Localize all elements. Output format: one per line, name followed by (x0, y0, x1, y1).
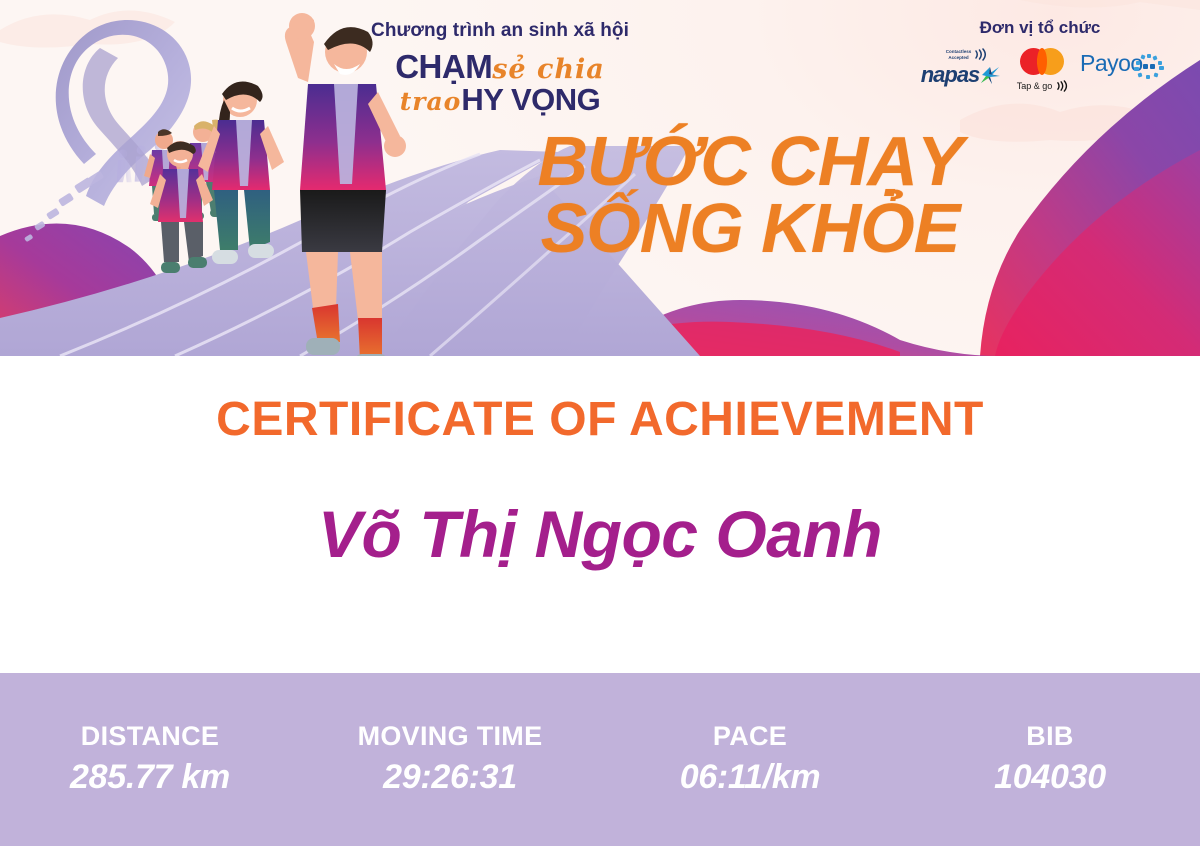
stat-label: PACE (600, 722, 900, 752)
contactless-line1: Contactless (946, 49, 972, 54)
certificate-title: CERTIFICATE OF ACHIEVEMENT (0, 392, 1200, 447)
tap-and-go-label: Tap & go (1017, 81, 1053, 91)
logo-script-se-chia: sẻ chia (492, 54, 605, 85)
stat-moving-time: MOVING TIME 29:26:31 (300, 722, 600, 797)
stat-value: 104030 (900, 758, 1200, 797)
sponsor-logos: Contactless Accepted napas (905, 44, 1175, 112)
logo-word-cham: CHẠM (395, 48, 492, 85)
mastercard-icon (1000, 44, 1086, 78)
stat-label: BIB (900, 722, 1200, 752)
contactless-wave-icon (974, 48, 988, 61)
stat-bib: BIB 104030 (900, 722, 1200, 797)
contactless-line2: Accepted (946, 55, 972, 60)
certificate-header: Chương trình an sinh xã hội CHẠMsẻ chia … (0, 0, 1200, 356)
certificate-body: CERTIFICATE OF ACHIEVEMENT Võ Thị Ngọc O… (0, 356, 1200, 673)
stat-pace: PACE 06:11/km (600, 722, 900, 797)
sponsor-logo-napas: Contactless Accepted napas (915, 48, 1007, 88)
stat-value: 06:11/km (600, 758, 900, 797)
tap-and-go-caption: Tap & go (1000, 80, 1086, 92)
program-logo-block: Chương trình an sinh xã hội CHẠMsẻ chia … (370, 20, 630, 120)
organizer-block: Đơn vị tổ chức Contactless Accepted (905, 18, 1175, 112)
stat-label: MOVING TIME (300, 722, 600, 752)
stats-bar: DISTANCE 285.77 km MOVING TIME 29:26:31 … (0, 673, 1200, 846)
event-title: BƯỚC CHẠY SỐNG KHỎE (400, 128, 1100, 262)
logo-word-hy-vong: HY VỌNG (461, 82, 600, 117)
sponsor-logo-mastercard: Tap & go (1000, 44, 1086, 92)
napas-wordmark: napas (921, 62, 980, 88)
napas-star-icon (979, 64, 1001, 86)
athlete-name: Võ Thị Ngọc Oanh (0, 496, 1200, 572)
stat-label: DISTANCE (0, 722, 300, 752)
program-logo-lockup: CHẠMsẻ chia traoHY VỌNG (370, 48, 630, 120)
certificate-card: Chương trình an sinh xã hội CHẠMsẻ chia … (0, 0, 1200, 846)
payoo-burst-icon (1133, 54, 1165, 80)
event-title-line2: SỐNG KHỎE (400, 195, 1100, 262)
logo-script-trao: trao (400, 87, 462, 116)
sponsor-logo-payoo: Payoo (1080, 50, 1175, 80)
stat-value: 29:26:31 (300, 758, 600, 797)
organizer-label: Đơn vị tổ chức (905, 18, 1175, 38)
stat-value: 285.77 km (0, 758, 300, 797)
contactless-wave-icon (1056, 80, 1069, 92)
stat-distance: DISTANCE 285.77 km (0, 722, 300, 797)
program-subtitle: Chương trình an sinh xã hội (370, 20, 630, 42)
